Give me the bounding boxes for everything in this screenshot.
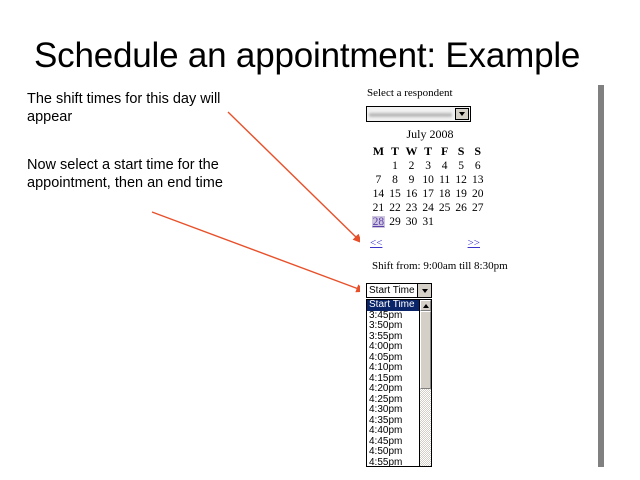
- start-time-option-list[interactable]: Start Time3:45pm3:50pm3:55pm4:00pm4:05pm…: [366, 299, 432, 467]
- calendar-day[interactable]: 26: [453, 201, 470, 215]
- calendar-weekday-5: S: [453, 144, 470, 159]
- calendar-weekday-3: T: [420, 144, 437, 159]
- calendar-day[interactable]: 9: [403, 173, 420, 187]
- calendar-day[interactable]: 31: [420, 215, 437, 229]
- calendar-day[interactable]: 13: [469, 173, 486, 187]
- calendar-day[interactable]: 30: [403, 215, 420, 229]
- calendar-day[interactable]: 25: [436, 201, 453, 215]
- calendar-day[interactable]: 11: [436, 173, 453, 187]
- calendar-day[interactable]: 20: [469, 187, 486, 201]
- calendar-day[interactable]: 5: [453, 159, 470, 173]
- scrollbar-track[interactable]: [420, 389, 431, 466]
- calendar-weekday-1: T: [387, 144, 404, 159]
- respondent-label: Select a respondent: [367, 87, 453, 99]
- start-time-option[interactable]: 4:20pm: [367, 384, 419, 395]
- calendar-day[interactable]: 2: [403, 159, 420, 173]
- start-time-combobox[interactable]: Start Time: [366, 283, 432, 298]
- calendar-weeks: 1234567891011121314151617181920212223242…: [370, 159, 486, 229]
- calendar-prev-link[interactable]: <<: [370, 237, 382, 249]
- calendar-day[interactable]: 24: [420, 201, 437, 215]
- shift-hours-text: Shift from: 9:00am till 8:30pm: [372, 260, 508, 272]
- calendar-day[interactable]: 7: [370, 173, 387, 187]
- calendar-day-selected[interactable]: 28: [370, 215, 387, 229]
- scrollbar-thumb[interactable]: [420, 311, 431, 389]
- calendar-day[interactable]: 10: [420, 173, 437, 187]
- calendar-day[interactable]: 22: [387, 201, 404, 215]
- start-time-option[interactable]: 4:55pm: [367, 458, 419, 468]
- calendar-day[interactable]: 19: [453, 187, 470, 201]
- calendar-nav: << >>: [370, 237, 480, 251]
- calendar-day[interactable]: 6: [469, 159, 486, 173]
- start-time-combobox-value: Start Time: [367, 285, 417, 296]
- chevron-down-icon[interactable]: [455, 108, 469, 120]
- start-time-option[interactable]: 3:50pm: [367, 321, 419, 332]
- calendar-day-empty: [469, 215, 486, 229]
- panel-shadow-right: [598, 85, 604, 467]
- calendar-day[interactable]: 27: [469, 201, 486, 215]
- start-time-option[interactable]: 4:00pm: [367, 342, 419, 353]
- calendar-day-empty: [453, 215, 470, 229]
- calendar-day[interactable]: 3: [420, 159, 437, 173]
- start-time-option[interactable]: 4:50pm: [367, 447, 419, 458]
- calendar-week-row: 123456: [370, 159, 486, 173]
- slide: Schedule an appointment: Example The shi…: [0, 0, 640, 480]
- respondent-value-redacted: [369, 110, 452, 119]
- arrow-to-start-time: [152, 212, 364, 291]
- calendar: July 2008 MTWTFSS 1234567891011121314151…: [366, 127, 486, 229]
- calendar-week-row: 28293031: [370, 215, 486, 229]
- calendar-weekday-6: S: [469, 144, 486, 159]
- calendar-day[interactable]: 12: [453, 173, 470, 187]
- respondent-select[interactable]: [366, 106, 471, 122]
- calendar-next-link[interactable]: >>: [468, 237, 480, 249]
- calendar-day[interactable]: 18: [436, 187, 453, 201]
- triangle-up-icon[interactable]: [420, 300, 431, 311]
- calendar-grid: MTWTFSS 12345678910111213141516171819202…: [370, 144, 486, 229]
- calendar-day[interactable]: 16: [403, 187, 420, 201]
- start-time-option[interactable]: Start Time: [367, 300, 419, 311]
- calendar-day[interactable]: 1: [387, 159, 404, 173]
- calendar-weekday-row: MTWTFSS: [370, 144, 486, 159]
- start-time-option[interactable]: 4:10pm: [367, 363, 419, 374]
- callout-text-select-start-time: Now select a start time for the appointm…: [27, 156, 257, 192]
- calendar-day[interactable]: 14: [370, 187, 387, 201]
- calendar-week-row: 78910111213: [370, 173, 486, 187]
- calendar-weekday-0: M: [370, 144, 387, 159]
- calendar-day[interactable]: 8: [387, 173, 404, 187]
- calendar-weekday-4: F: [436, 144, 453, 159]
- start-time-option[interactable]: 4:30pm: [367, 405, 419, 416]
- calendar-day[interactable]: 15: [387, 187, 404, 201]
- chevron-down-icon[interactable]: [417, 284, 431, 297]
- calendar-day[interactable]: 21: [370, 201, 387, 215]
- start-time-option[interactable]: 4:40pm: [367, 426, 419, 437]
- calendar-day-empty: [436, 215, 453, 229]
- calendar-day-empty: [370, 159, 387, 173]
- calendar-weekday-2: W: [403, 144, 420, 159]
- calendar-day[interactable]: 23: [403, 201, 420, 215]
- calendar-week-row: 14151617181920: [370, 187, 486, 201]
- start-time-options[interactable]: Start Time3:45pm3:50pm3:55pm4:00pm4:05pm…: [367, 300, 419, 466]
- app-screenshot-panel: Select a respondent July 2008 MTWTFSS 12…: [360, 85, 598, 467]
- callout-text-shift-times: The shift times for this day will appear: [27, 90, 257, 126]
- calendar-month-label: July 2008: [366, 127, 486, 142]
- calendar-day[interactable]: 4: [436, 159, 453, 173]
- page-title: Schedule an appointment: Example: [34, 36, 614, 76]
- calendar-week-row: 21222324252627: [370, 201, 486, 215]
- start-time-scrollbar[interactable]: [419, 300, 431, 466]
- calendar-day[interactable]: 17: [420, 187, 437, 201]
- calendar-day[interactable]: 29: [387, 215, 404, 229]
